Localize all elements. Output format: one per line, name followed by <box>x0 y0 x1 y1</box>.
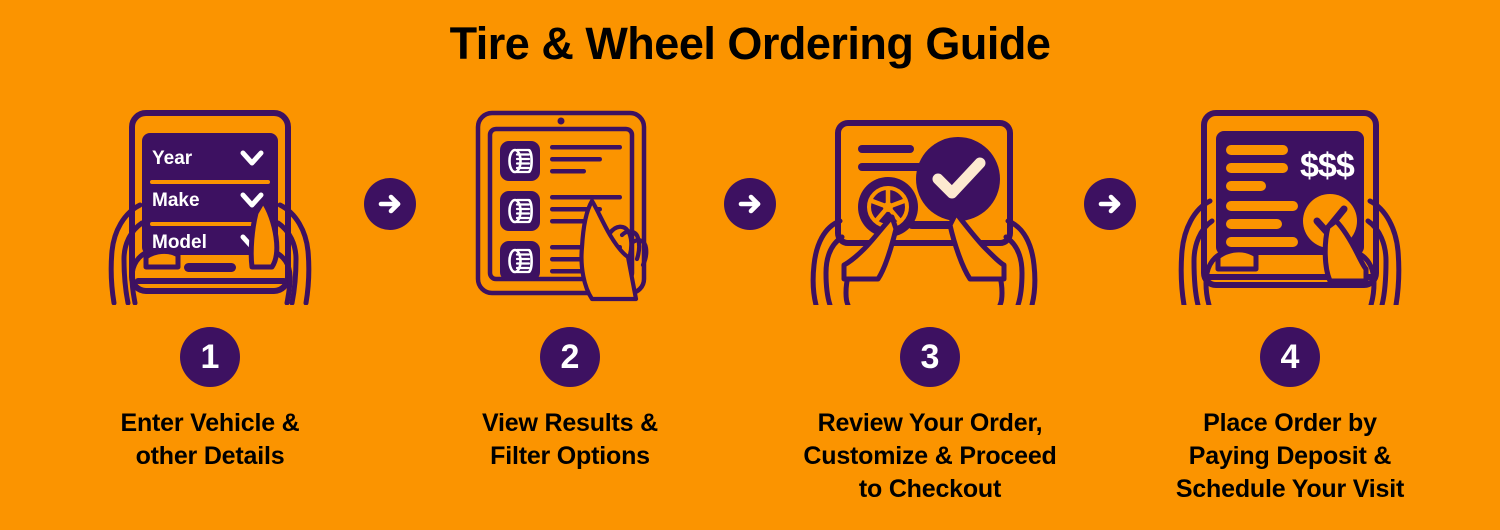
dropdown-label-year: Year <box>152 148 193 169</box>
arrow-right-icon-1 <box>364 178 416 230</box>
camera-dot-icon <box>558 118 565 125</box>
arrow-right-icon-2 <box>724 178 776 230</box>
dropdown-label-make: Make <box>152 190 200 211</box>
tablet-review-order-illustration <box>800 105 1060 305</box>
step-number-badge-3: 3 <box>900 327 960 387</box>
arrow-right-icon-3 <box>1084 178 1136 230</box>
price-symbol: $$$ <box>1300 147 1355 185</box>
step-caption-1-line2: other Details <box>60 440 360 473</box>
step-1-illustration: Year Make Model <box>80 105 340 305</box>
step-2: 2 View Results & Filter Options <box>420 105 720 473</box>
step-caption-2-line2: Filter Options <box>420 440 720 473</box>
step-2-illustration <box>440 105 700 305</box>
steps-row: Year Make Model <box>0 105 1500 530</box>
step-caption-4-line1: Place Order by <box>1140 407 1440 440</box>
step-3-illustration <box>800 105 1060 305</box>
page-title: Tire & Wheel Ordering Guide <box>0 14 1500 74</box>
step-4: $$$ <box>1140 105 1440 506</box>
step-caption-3-line2: Customize & Proceed <box>780 440 1080 473</box>
step-caption-4: Place Order by Paying Deposit & Schedule… <box>1140 407 1440 506</box>
pointing-hand-icon <box>581 201 646 299</box>
step-caption-3-line1: Review Your Order, <box>780 407 1080 440</box>
step-caption-3-line3: to Checkout <box>780 473 1080 506</box>
step-4-illustration: $$$ <box>1160 105 1420 305</box>
tablet-place-order-illustration: $$$ <box>1160 105 1420 305</box>
arrow-connector-1 <box>360 105 420 230</box>
tablet-results-list-illustration <box>440 105 700 305</box>
step-caption-2: View Results & Filter Options <box>420 407 720 473</box>
arrow-connector-3 <box>1080 105 1140 230</box>
arrow-right-glyph-3 <box>1095 189 1125 219</box>
step-caption-3: Review Your Order, Customize & Proceed t… <box>780 407 1080 506</box>
step-caption-4-line3: Schedule Your Visit <box>1140 473 1440 506</box>
step-3: 3 Review Your Order, Customize & Proceed… <box>780 105 1080 506</box>
infographic-root: Tire & Wheel Ordering Guide Year Make Mo… <box>0 0 1500 530</box>
home-bar-icon <box>184 263 236 272</box>
step-caption-4-line2: Paying Deposit & <box>1140 440 1440 473</box>
arrow-right-glyph-2 <box>735 189 765 219</box>
tablet-year-make-model-illustration: Year Make Model <box>80 105 340 305</box>
checkmark-circle-icon <box>916 137 1000 221</box>
step-number-badge-2: 2 <box>540 327 600 387</box>
step-number-badge-1: 1 <box>180 327 240 387</box>
arrow-right-glyph-1 <box>375 189 405 219</box>
step-number-badge-4: 4 <box>1260 327 1320 387</box>
step-caption-1: Enter Vehicle & other Details <box>60 407 360 473</box>
step-caption-2-line1: View Results & <box>420 407 720 440</box>
arrow-connector-2 <box>720 105 780 230</box>
step-caption-1-line1: Enter Vehicle & <box>60 407 360 440</box>
step-1: Year Make Model <box>60 105 360 473</box>
